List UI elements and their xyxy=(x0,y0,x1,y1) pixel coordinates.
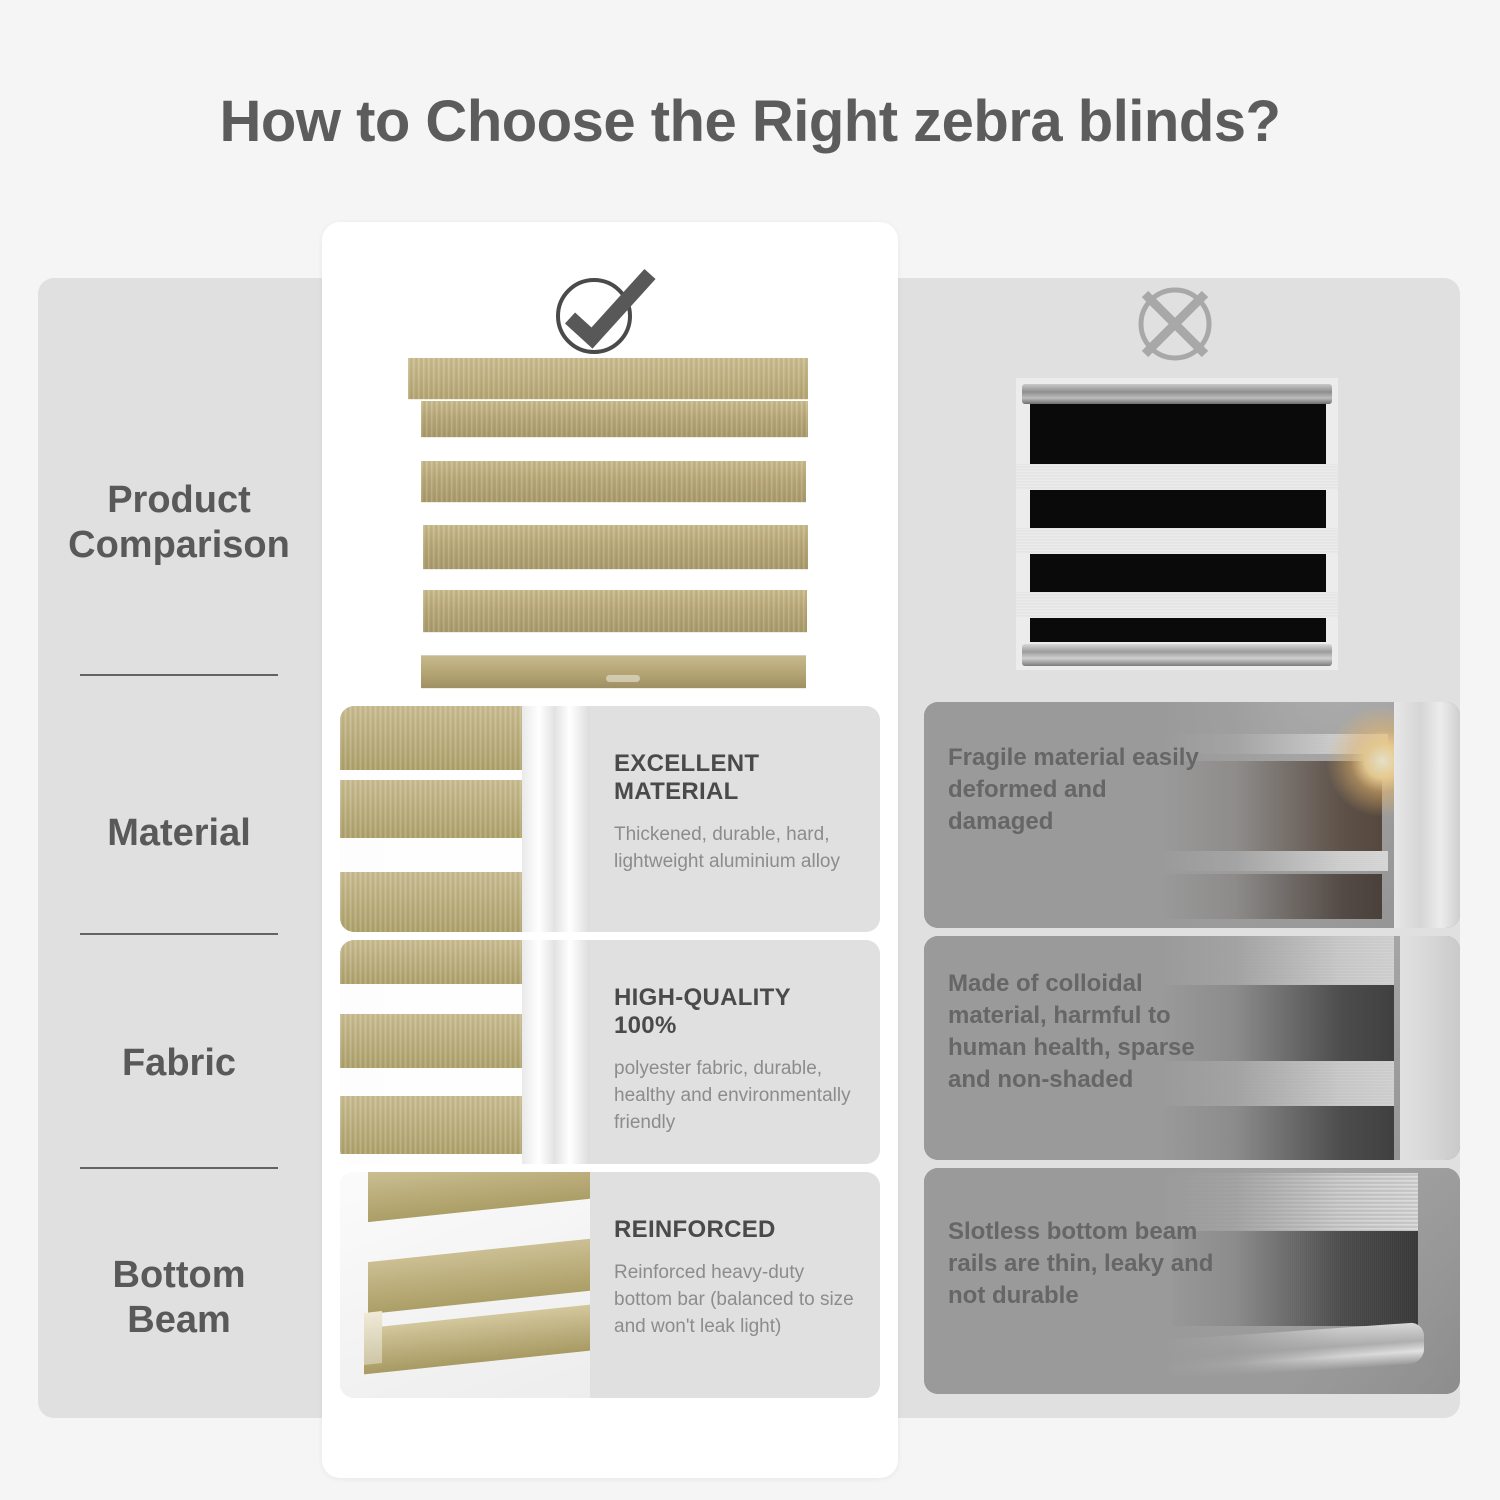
drawback-text: Fragile material easily deformed and dam… xyxy=(948,742,1216,838)
feature-body: Thickened, durable, hard, lightweight al… xyxy=(614,822,858,876)
inferior-product-column: Fragile material easily deformed and dam… xyxy=(900,258,1460,1438)
category-label-fabric: Fabric xyxy=(38,978,320,1148)
category-label-product-comparison: ProductComparison xyxy=(38,438,320,608)
page-title: How to Choose the Right zebra blinds? xyxy=(0,88,1500,155)
reinforced-bottom-bar-photo xyxy=(340,1172,590,1398)
drawback-row-bottom-beam: Slotless bottom beam rails are thin, lea… xyxy=(924,1168,1460,1394)
check-circle-icon xyxy=(546,268,666,360)
category-label-text: Fabric xyxy=(122,1041,236,1086)
feature-title: REINFORCED xyxy=(614,1216,858,1244)
feature-row-fabric: HIGH-QUALITY 100% polyester fabric, dura… xyxy=(340,940,880,1164)
feature-row-bottom-beam: REINFORCED Reinforced heavy-duty bottom … xyxy=(340,1172,880,1398)
category-label-text: ProductComparison xyxy=(68,478,290,568)
tan-blind-window-frame-photo xyxy=(340,706,590,932)
category-label-text: BottomBeam xyxy=(113,1253,246,1343)
drawback-row-material: Fragile material easily deformed and dam… xyxy=(924,702,1460,928)
category-divider xyxy=(80,933,278,935)
feature-title: HIGH-QUALITY 100% xyxy=(614,984,858,1040)
category-label-bottom-beam: BottomBeam xyxy=(38,1208,320,1388)
feature-body: polyester fabric, durable, healthy and e… xyxy=(614,1056,858,1137)
feature-body: Reinforced heavy-duty bottom bar (balanc… xyxy=(614,1260,858,1341)
tan-blind-fabric-closeup-photo xyxy=(340,940,590,1164)
feature-row-material: EXCELLENT MATERIAL Thickened, durable, h… xyxy=(340,706,880,932)
feature-title: EXCELLENT MATERIAL xyxy=(614,750,858,806)
category-label-material: Material xyxy=(38,748,320,918)
category-divider xyxy=(80,1167,278,1169)
recommended-blind-hero-image xyxy=(408,358,808,698)
category-label-column: ProductComparison Material Fabric Bottom… xyxy=(38,278,320,1418)
category-divider xyxy=(80,674,278,676)
drawback-text: Slotless bottom beam rails are thin, lea… xyxy=(948,1216,1216,1312)
category-label-text: Material xyxy=(107,811,251,856)
drawback-text: Made of colloidal material, harmful to h… xyxy=(948,968,1216,1097)
drawback-row-fabric: Made of colloidal material, harmful to h… xyxy=(924,936,1460,1160)
cross-circle-icon xyxy=(1115,278,1235,370)
